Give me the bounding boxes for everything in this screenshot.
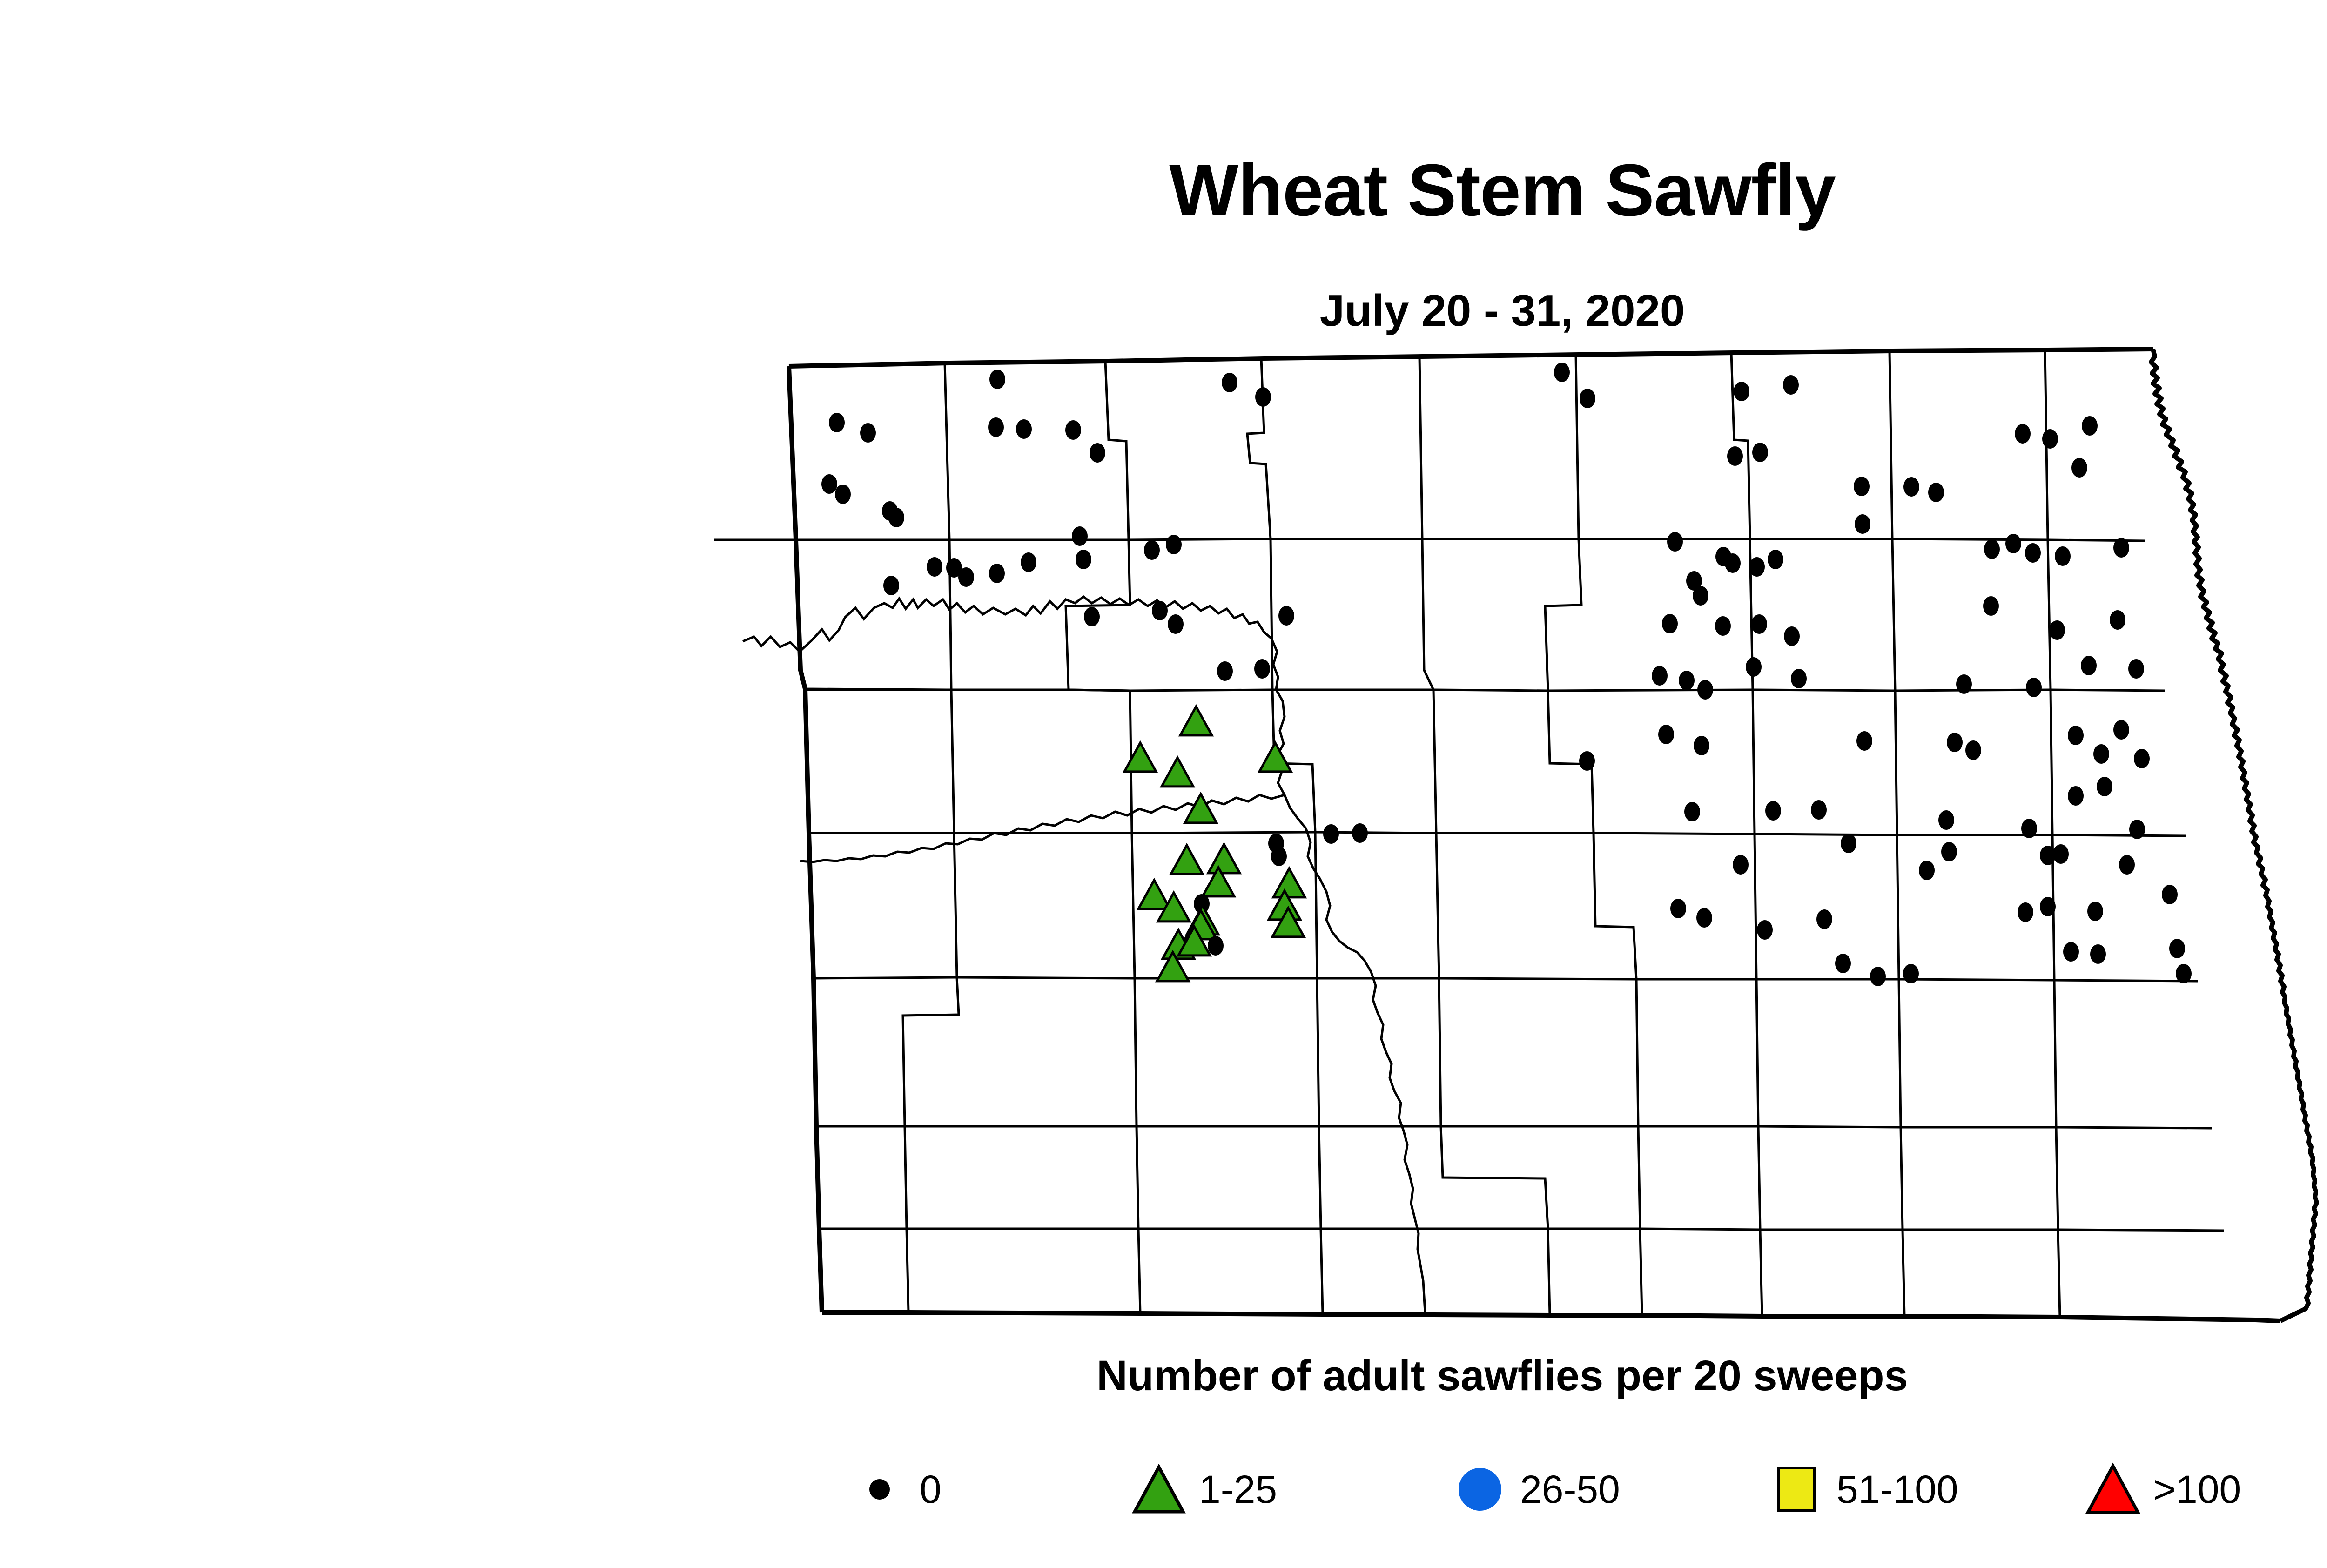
survey-point[interactable] [1090, 443, 1105, 463]
survey-point[interactable] [1222, 373, 1237, 392]
survey-point[interactable] [1144, 540, 1160, 560]
legend-label-0: 0 [920, 1467, 942, 1512]
survey-point[interactable] [1757, 920, 1773, 940]
survey-point[interactable] [2026, 678, 2042, 697]
survey-point[interactable] [1696, 908, 1712, 928]
missouri-river [743, 597, 1425, 1312]
legend-item-3[interactable]: 51-100 [1769, 1450, 2085, 1529]
survey-point[interactable] [1752, 443, 1768, 462]
survey-point[interactable] [1352, 823, 1368, 843]
legend-label-1: 1-25 [1199, 1467, 1277, 1512]
survey-point[interactable] [2025, 543, 2041, 563]
survey-point[interactable] [860, 423, 876, 443]
page-title: Wheat Stem Sawfly [0, 154, 2327, 227]
survey-point[interactable] [1694, 736, 1709, 755]
survey-point[interactable] [2113, 720, 2129, 740]
survey-point[interactable] [1791, 669, 1807, 688]
survey-point[interactable] [1727, 446, 1743, 466]
survey-point[interactable] [1941, 842, 1957, 861]
survey-point[interactable] [2068, 726, 2084, 745]
survey-point[interactable] [2049, 620, 2065, 640]
survey-point[interactable] [1271, 847, 1287, 866]
survey-point[interactable] [1580, 389, 1595, 408]
legend-label-4: >100 [2153, 1467, 2241, 1512]
survey-point[interactable] [1693, 586, 1708, 606]
survey-point[interactable] [835, 485, 851, 504]
survey-point[interactable] [2068, 786, 2084, 806]
survey-point[interactable] [2040, 846, 2056, 865]
survey-point[interactable] [1662, 614, 1678, 633]
survey-point[interactable] [1749, 557, 1765, 577]
survey-point[interactable] [2082, 416, 2098, 436]
survey-point[interactable] [1016, 419, 1032, 439]
survey-point[interactable] [1273, 868, 1305, 897]
survey-point[interactable] [1854, 477, 1870, 496]
survey-point[interactable] [1746, 657, 1762, 677]
legend-title: Number of adult sawflies per 20 sweeps [0, 1354, 2327, 1397]
survey-point[interactable] [1816, 909, 1832, 929]
survey-point[interactable] [1947, 733, 1963, 752]
survey-point[interactable] [927, 557, 942, 577]
survey-point[interactable] [1185, 794, 1217, 823]
survey-point[interactable] [2134, 749, 2150, 768]
survey-point[interactable] [1255, 387, 1271, 407]
survey-point[interactable] [1841, 834, 1856, 853]
survey-point[interactable] [1938, 810, 1954, 830]
survey-point[interactable] [988, 417, 1004, 437]
survey-point[interactable] [2176, 964, 2192, 983]
survey-point[interactable] [1765, 801, 1781, 821]
survey-point[interactable] [1323, 824, 1339, 844]
north-dakota-map[interactable] [707, 344, 2327, 1350]
survey-point[interactable] [2097, 777, 2112, 796]
survey-point[interactable] [1679, 671, 1695, 690]
survey-point[interactable] [1751, 614, 1767, 634]
legend-symbol-red-triangle-icon [2085, 1459, 2141, 1520]
survey-point[interactable] [1835, 954, 1851, 973]
survey-point[interactable] [2128, 659, 2144, 679]
legend-symbol-yellow-square-icon [1769, 1459, 1824, 1520]
survey-point[interactable] [1697, 680, 1713, 700]
legend-label-2: 26-50 [1520, 1467, 1620, 1512]
survey-point[interactable] [2110, 610, 2125, 630]
survey-point[interactable] [1733, 855, 1749, 875]
survey-point[interactable] [1715, 616, 1731, 636]
survey-point[interactable] [2055, 546, 2071, 566]
survey-point[interactable] [2119, 855, 2135, 875]
survey-point[interactable] [1652, 666, 1668, 686]
survey-point[interactable] [1166, 535, 1182, 554]
survey-point[interactable] [1811, 800, 1827, 820]
survey-point[interactable] [1171, 845, 1203, 874]
survey-point[interactable] [1072, 526, 1088, 546]
survey-point[interactable] [1021, 552, 1036, 572]
survey-point[interactable] [1124, 743, 1156, 772]
survey-point[interactable] [1084, 607, 1100, 626]
survey-point[interactable] [2081, 656, 2097, 675]
survey-point[interactable] [883, 576, 899, 595]
survey-point[interactable] [1658, 725, 1674, 744]
survey-point[interactable] [2063, 942, 2079, 962]
legend: 0 1-25 26-50 51-100 [852, 1443, 2327, 1536]
survey-point[interactable] [1208, 844, 1240, 873]
survey-point[interactable] [1903, 477, 1919, 497]
survey-point[interactable] [1670, 899, 1686, 918]
county-boundaries [714, 350, 2224, 1317]
page-subtitle: July 20 - 31, 2020 [0, 289, 2327, 333]
survey-point[interactable] [1554, 363, 1570, 382]
survey-point[interactable] [2087, 902, 2103, 921]
survey-point[interactable] [1784, 626, 1800, 646]
legend-item-1[interactable]: 1-25 [1131, 1450, 1452, 1529]
survey-point[interactable] [2113, 538, 2129, 558]
survey-point[interactable] [989, 564, 1005, 583]
survey-point[interactable] [2169, 939, 2185, 958]
survey-point[interactable] [2005, 534, 2021, 553]
survey-point[interactable] [1768, 550, 1783, 569]
survey-point[interactable] [821, 474, 837, 494]
survey-point[interactable] [989, 370, 1005, 389]
nd-county-map-svg[interactable] [707, 344, 2327, 1350]
survey-point[interactable] [1579, 751, 1595, 771]
survey-point[interactable] [2021, 819, 2037, 838]
survey-point[interactable] [1217, 661, 1233, 681]
survey-point[interactable] [1259, 743, 1291, 772]
survey-point[interactable] [1168, 614, 1184, 634]
survey-point[interactable] [1152, 601, 1168, 620]
survey-point[interactable] [1278, 606, 1294, 626]
survey-point[interactable] [1180, 707, 1212, 735]
survey-point[interactable] [1965, 740, 1981, 760]
survey-point[interactable] [1162, 758, 1193, 787]
survey-point[interactable] [2071, 458, 2087, 478]
survey-point[interactable] [1919, 861, 1935, 880]
survey-point[interactable] [1956, 674, 1972, 694]
legend-symbol-blue-circle-icon [1452, 1459, 1508, 1520]
legend-symbol-green-triangle-icon [1131, 1459, 1187, 1520]
survey-point[interactable] [2090, 944, 2106, 964]
survey-point[interactable] [1667, 532, 1683, 552]
survey-point[interactable] [1983, 596, 1999, 616]
survey-point[interactable] [1856, 731, 1872, 751]
survey-point[interactable] [2129, 820, 2145, 839]
legend-item-4[interactable]: >100 [2085, 1450, 2327, 1529]
survey-point[interactable] [1254, 659, 1270, 679]
legend-label-3: 51-100 [1836, 1467, 1958, 1512]
survey-point[interactable] [2040, 897, 2056, 916]
survey-point[interactable] [1783, 375, 1799, 395]
legend-item-2[interactable]: 26-50 [1452, 1450, 1769, 1529]
survey-point[interactable] [1725, 553, 1741, 573]
survey-point[interactable] [2015, 424, 2031, 444]
survey-point[interactable] [1138, 880, 1170, 909]
survey-point[interactable] [958, 567, 974, 587]
survey-point[interactable] [1065, 420, 1081, 440]
survey-point[interactable] [829, 413, 845, 432]
survey-point[interactable] [1984, 539, 2000, 559]
survey-point[interactable] [1855, 514, 1870, 534]
survey-point[interactable] [1208, 936, 1224, 956]
survey-point[interactable] [1734, 382, 1749, 401]
survey-point[interactable] [2162, 885, 2178, 904]
survey-point[interactable] [2042, 429, 2058, 449]
survey-point[interactable] [1870, 967, 1886, 986]
legend-item-0[interactable]: 0 [852, 1450, 1131, 1529]
survey-points-layer[interactable] [821, 363, 2192, 986]
legend-symbol-zero-dot-icon [852, 1459, 908, 1520]
survey-point[interactable] [888, 508, 904, 527]
survey-point[interactable] [2093, 744, 2109, 764]
survey-point[interactable] [1928, 483, 1944, 502]
survey-point[interactable] [2018, 902, 2033, 922]
survey-point[interactable] [1903, 964, 1919, 983]
map-figure-root: Wheat Stem Sawfly July 20 - 31, 2020 [0, 0, 2327, 1568]
survey-point[interactable] [1076, 550, 1091, 569]
survey-point[interactable] [1684, 802, 1700, 821]
